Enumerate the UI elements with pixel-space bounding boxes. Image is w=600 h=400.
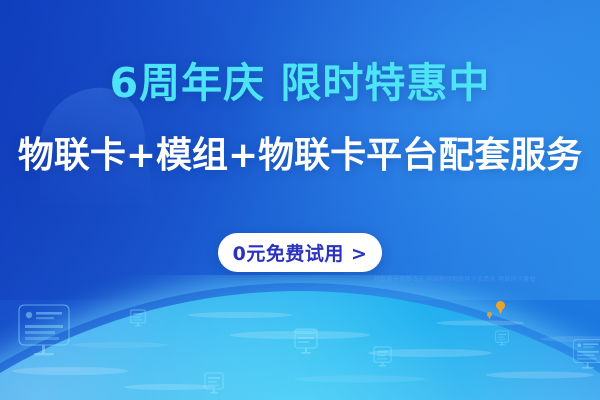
pin-small-icon: [487, 305, 492, 324]
headline-text: 6周年庆 限时特惠中: [0, 58, 600, 108]
card-small-right-icon: [495, 329, 509, 347]
pin-large-icon: [496, 300, 505, 319]
monitor-card-large-left-icon: [18, 304, 70, 360]
card-small-lower-mid-icon: [204, 372, 224, 394]
globe-atmosphere-glow: [0, 283, 600, 400]
monitor-card-right-edge-icon: [573, 338, 600, 372]
sky-glow-left-decoration: [0, 0, 260, 360]
card-small-upper-left-icon: [130, 309, 146, 327]
card-browser-center-icon: [294, 328, 318, 354]
globe-sphere: [0, 291, 600, 400]
globe-graphic: [0, 275, 600, 400]
free-trial-cta-button[interactable]: 0元免费试用 >: [218, 233, 382, 272]
card-small-center-right-icon: [373, 346, 392, 367]
subheadline-text: 物联卡+模组+物联卡平台配套服务: [0, 133, 600, 179]
promo-banner: 物联网卡资费 5元 中国移动物联网卡资费表 物联网卡套餐: [0, 0, 600, 400]
globe-cloud-streaks: [0, 275, 600, 400]
background-texture-text: 物联网卡资费 5元 中国移动物联网卡资费表 物联网卡套餐: [330, 276, 580, 298]
